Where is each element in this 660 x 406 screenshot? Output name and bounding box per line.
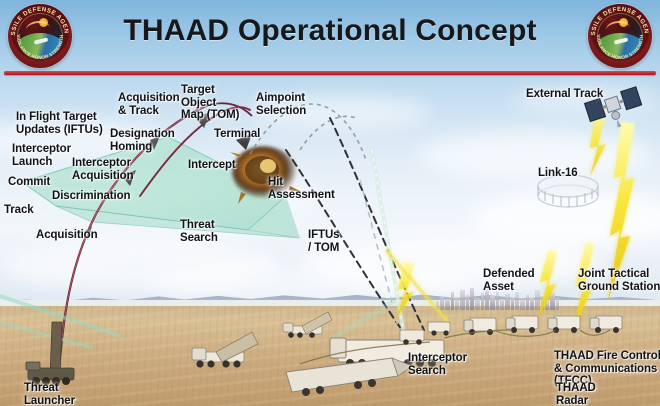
label-designation-homing: Designation Homing [110,128,175,153]
label-target-object-map: Target Object Map (TOM) [181,84,239,122]
label-threat-search: Threat Search [180,219,218,244]
mda-seal-icon: MISSILE DEFENSE AGENCY VIGILANCE HONOR S… [588,4,652,68]
svg-text:MISSILE DEFENSE AGENCY: MISSILE DEFENSE AGENCY [8,4,70,36]
label-threat-launcher: Threat Launcher [24,382,75,406]
header-bar: THAAD Operational Concept [0,0,660,74]
label-acquisition: Acquisition [36,229,98,242]
mda-seal-icon: MISSILE DEFENSE AGENCY VIGILANCE HONOR S… [8,4,72,68]
label-hit-assessment: Hit Assessment [268,176,335,201]
svg-text:VIGILANCE HONOR STRENGTH: VIGILANCE HONOR STRENGTH [596,34,644,60]
label-link-16: Link-16 [538,167,578,180]
label-defended-asset: Defended Asset [483,268,535,293]
label-commit: Commit [8,176,50,189]
label-interceptor-acquisition: Interceptor Acquisition [72,157,134,182]
label-interceptor-launch: Interceptor Launch [12,143,71,168]
page-title: THAAD Operational Concept [0,14,660,48]
link16-ring-icon [538,175,598,207]
label-thaad-radar: THAAD Radar [556,382,596,406]
label-in-flight-target-updates: In Flight Target Updates (IFTUs) [16,111,103,136]
comm-beam-yellow [538,108,634,334]
label-iftus-tom: IFTUs / TOM [308,229,339,254]
header-divider [4,71,656,75]
label-interceptor-search: Interceptor Search [408,352,467,377]
label-acquisition-and-track: Acquisition & Track [118,92,180,117]
support-vehicle [428,322,450,336]
label-terminal: Terminal [214,128,260,141]
label-discrimination: Discrimination [52,190,130,203]
thaad-launcher-vehicle [283,312,332,338]
label-track: Track [4,204,34,217]
label-aimpoint-selection: Aimpoint Selection [256,92,306,117]
thaad-launcher-vehicle [192,332,258,368]
label-external-track: External Track [526,88,603,101]
thaad-operational-concept-diagram: THAAD Operational Concept MISSILE DEFENS… [0,0,660,406]
svg-text:VIGILANCE HONOR STRENGTH: VIGILANCE HONOR STRENGTH [16,34,64,60]
label-intercept: Intercept [188,159,236,172]
label-joint-tactical-ground-station: Joint Tactical Ground Station [578,268,660,293]
svg-text:MISSILE DEFENSE AGENCY: MISSILE DEFENSE AGENCY [588,4,650,36]
